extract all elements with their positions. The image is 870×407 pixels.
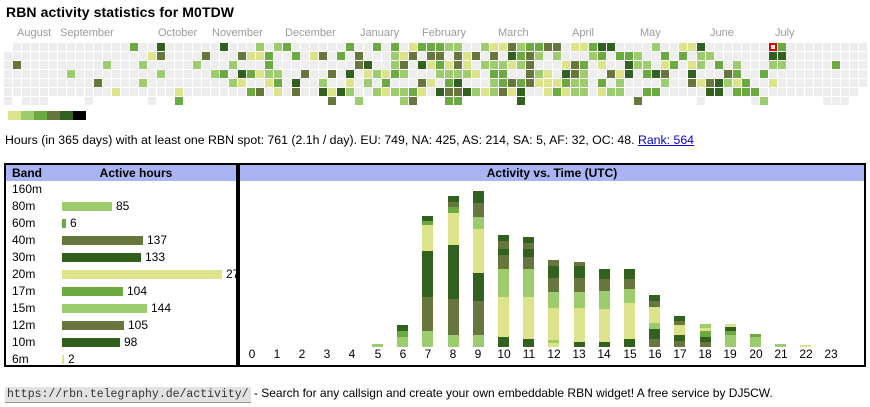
heatmap-cell[interactable] [31,70,39,78]
heatmap-cell[interactable] [643,70,651,78]
heatmap-cell[interactable] [112,70,120,78]
heatmap-cell[interactable] [346,52,354,60]
heatmap-cell[interactable] [373,52,381,60]
heatmap-cell[interactable] [49,61,57,69]
heatmap-cell[interactable] [553,88,561,96]
heatmap-cell[interactable] [409,52,417,60]
heatmap-cell[interactable] [751,70,759,78]
heatmap-cell[interactable] [391,52,399,60]
heatmap-cell[interactable] [670,61,678,69]
heatmap-cell[interactable] [643,88,651,96]
heatmap-cell[interactable] [247,61,255,69]
heatmap-cell[interactable] [202,79,210,87]
heatmap-cell[interactable] [760,88,768,96]
heatmap-cell[interactable] [292,43,300,51]
heatmap-cell[interactable] [481,43,489,51]
heatmap-cell[interactable] [661,79,669,87]
heatmap-cell[interactable] [796,79,804,87]
heatmap-cell[interactable] [418,61,426,69]
heatmap-cell[interactable] [589,88,597,96]
hour-bar[interactable] [422,216,433,347]
heatmap-cell[interactable] [148,52,156,60]
heatmap-cell[interactable] [841,70,849,78]
heatmap-cell[interactable] [805,79,813,87]
heatmap-cell[interactable] [553,70,561,78]
heatmap-cell[interactable] [733,52,741,60]
heatmap-cell[interactable] [787,52,795,60]
heatmap-cell[interactable] [589,79,597,87]
heatmap-cell[interactable] [31,97,39,105]
heatmap-cell[interactable] [301,88,309,96]
heatmap-cell[interactable] [157,88,165,96]
heatmap-cell[interactable] [49,70,57,78]
heatmap-cell[interactable] [337,61,345,69]
heatmap-cell[interactable] [607,61,615,69]
heatmap-cell[interactable] [778,70,786,78]
heatmap-cell[interactable] [670,70,678,78]
heatmap-cell[interactable] [256,43,264,51]
heatmap-cell[interactable] [832,79,840,87]
heatmap-cell[interactable] [850,52,858,60]
heatmap-cell[interactable] [760,43,768,51]
heatmap-cell[interactable] [409,79,417,87]
heatmap-cell[interactable] [148,43,156,51]
heatmap-cell[interactable] [490,70,498,78]
heatmap-cell[interactable] [211,52,219,60]
heatmap-cell[interactable] [643,79,651,87]
heatmap-cell[interactable] [814,70,822,78]
heatmap-cell[interactable] [517,61,525,69]
heatmap-cell[interactable] [112,79,120,87]
heatmap-cell[interactable] [571,70,579,78]
heatmap-cell[interactable] [292,52,300,60]
heatmap-cell[interactable] [265,70,273,78]
heatmap-cell[interactable] [265,43,273,51]
heatmap-cell[interactable] [58,79,66,87]
heatmap-cell[interactable] [58,70,66,78]
heatmap-cell[interactable] [598,88,606,96]
heatmap-cell[interactable] [580,43,588,51]
heatmap-cell[interactable] [391,79,399,87]
heatmap-cell[interactable] [697,79,705,87]
heatmap-cell[interactable] [823,43,831,51]
heatmap-cell[interactable] [796,43,804,51]
heatmap-cell[interactable] [778,88,786,96]
heatmap-cell[interactable] [562,43,570,51]
heatmap-cell[interactable] [697,88,705,96]
heatmap-cell[interactable] [310,70,318,78]
heatmap-cell[interactable] [13,43,21,51]
heatmap-cell[interactable] [787,61,795,69]
heatmap-cell[interactable] [148,61,156,69]
heatmap-cell[interactable] [463,88,471,96]
heatmap-cell[interactable] [562,79,570,87]
heatmap-cell[interactable] [193,79,201,87]
heatmap-cell[interactable] [49,43,57,51]
heatmap-cell[interactable] [715,79,723,87]
heatmap-cell[interactable] [40,88,48,96]
heatmap-cell[interactable] [823,61,831,69]
heatmap-cell[interactable] [301,43,309,51]
heatmap-cell[interactable] [382,61,390,69]
heatmap-cell[interactable] [238,79,246,87]
rank-link[interactable]: Rank: 564 [638,133,694,147]
hour-bar[interactable] [649,295,660,347]
heatmap-cell[interactable] [139,52,147,60]
heatmap-cell[interactable] [706,70,714,78]
heatmap-cell[interactable] [4,88,12,96]
heatmap-cell[interactable] [22,79,30,87]
heatmap-cell[interactable] [607,43,615,51]
heatmap-cell[interactable] [688,79,696,87]
heatmap-cell[interactable] [580,70,588,78]
heatmap-cell[interactable] [130,52,138,60]
heatmap-cell[interactable] [418,43,426,51]
heatmap-cell[interactable] [355,79,363,87]
heatmap-cell[interactable] [310,43,318,51]
heatmap-cell[interactable] [634,43,642,51]
heatmap-cell[interactable] [499,70,507,78]
heatmap-cell[interactable] [67,70,75,78]
heatmap-cell[interactable] [652,70,660,78]
heatmap-cell[interactable] [139,61,147,69]
heatmap-cell[interactable] [373,79,381,87]
heatmap-cell[interactable] [139,79,147,87]
heatmap-cell[interactable] [364,88,372,96]
heatmap-cell[interactable] [13,79,21,87]
heatmap-cell[interactable] [580,52,588,60]
heatmap-cell[interactable] [553,52,561,60]
heatmap-cell[interactable] [589,52,597,60]
heatmap-cell[interactable] [697,52,705,60]
heatmap-cell[interactable] [130,70,138,78]
heatmap-cell[interactable] [652,43,660,51]
heatmap-cell[interactable] [94,61,102,69]
heatmap-cell[interactable] [22,88,30,96]
heatmap-cell[interactable] [40,43,48,51]
heatmap-cell[interactable] [58,61,66,69]
heatmap-cell[interactable] [85,43,93,51]
heatmap-cell[interactable] [706,43,714,51]
heatmap-cell[interactable] [175,79,183,87]
heatmap-cell[interactable] [85,61,93,69]
heatmap-cell[interactable] [328,70,336,78]
heatmap-cell[interactable] [742,79,750,87]
heatmap-cell[interactable] [724,52,732,60]
heatmap-cell[interactable] [4,52,12,60]
heatmap-cell[interactable] [31,52,39,60]
heatmap-cell[interactable] [535,61,543,69]
hour-bar[interactable] [599,269,610,347]
heatmap-cell[interactable] [832,88,840,96]
heatmap-cell[interactable] [139,70,147,78]
heatmap-cell[interactable] [724,43,732,51]
heatmap-cell[interactable] [112,88,120,96]
heatmap-cell[interactable] [526,61,534,69]
heatmap-cell[interactable] [121,61,129,69]
heatmap-cell[interactable] [589,61,597,69]
heatmap-cell[interactable] [229,79,237,87]
heatmap-cell[interactable] [517,70,525,78]
heatmap-cell[interactable] [103,70,111,78]
heatmap-cell[interactable] [166,88,174,96]
heatmap-cell[interactable] [211,43,219,51]
hour-bar[interactable] [523,237,534,347]
heatmap-cell[interactable] [805,70,813,78]
heatmap-cell[interactable] [823,97,831,105]
heatmap-cell[interactable] [571,88,579,96]
heatmap-cell[interactable] [445,88,453,96]
heatmap-cell[interactable] [445,61,453,69]
heatmap-cell[interactable] [391,70,399,78]
heatmap-cell[interactable] [445,52,453,60]
heatmap-cell[interactable] [751,79,759,87]
hour-bar[interactable] [700,324,711,347]
heatmap-cell[interactable] [409,97,417,105]
heatmap-cell[interactable] [409,61,417,69]
heatmap-cell[interactable] [463,52,471,60]
heatmap-cell[interactable] [310,88,318,96]
heatmap-cell[interactable] [427,88,435,96]
heatmap-cell[interactable] [490,52,498,60]
heatmap-cell[interactable] [454,79,462,87]
heatmap-cell[interactable] [463,70,471,78]
heatmap-cell[interactable] [733,70,741,78]
heatmap-cell[interactable] [652,52,660,60]
heatmap-cell[interactable] [490,88,498,96]
heatmap-cell-today[interactable] [769,43,777,51]
heatmap-cell[interactable] [769,79,777,87]
heatmap-cell[interactable] [697,43,705,51]
heatmap-cell[interactable] [751,97,759,105]
heatmap-cell[interactable] [355,88,363,96]
heatmap-cell[interactable] [121,79,129,87]
heatmap-cell[interactable] [229,61,237,69]
heatmap-cell[interactable] [310,52,318,60]
heatmap-cell[interactable] [265,79,273,87]
heatmap-cell[interactable] [787,70,795,78]
heatmap-cell[interactable] [436,52,444,60]
heatmap-cell[interactable] [175,43,183,51]
heatmap-cell[interactable] [526,70,534,78]
heatmap-cell[interactable] [364,70,372,78]
heatmap-cell[interactable] [490,43,498,51]
heatmap-cell[interactable] [733,43,741,51]
heatmap-cell[interactable] [706,61,714,69]
heatmap-cell[interactable] [184,43,192,51]
heatmap-cell[interactable] [346,79,354,87]
heatmap-cell[interactable] [175,52,183,60]
heatmap-cell[interactable] [301,52,309,60]
heatmap-cell[interactable] [409,88,417,96]
heatmap-cell[interactable] [22,61,30,69]
heatmap-cell[interactable] [760,97,768,105]
heatmap-cell[interactable] [454,43,462,51]
heatmap-cell[interactable] [157,52,165,60]
heatmap-cell[interactable] [742,43,750,51]
heatmap-cell[interactable] [706,79,714,87]
heatmap-cell[interactable] [400,43,408,51]
heatmap-cell[interactable] [301,70,309,78]
heatmap-cell[interactable] [85,70,93,78]
heatmap-cell[interactable] [229,43,237,51]
heatmap-cell[interactable] [688,70,696,78]
heatmap-cell[interactable] [319,61,327,69]
heatmap-cell[interactable] [760,79,768,87]
heatmap-cell[interactable] [697,70,705,78]
heatmap-cell[interactable] [616,70,624,78]
heatmap-cell[interactable] [625,52,633,60]
heatmap-cell[interactable] [499,61,507,69]
heatmap-cell[interactable] [661,43,669,51]
heatmap-cell[interactable] [436,61,444,69]
heatmap-cell[interactable] [715,43,723,51]
heatmap-cell[interactable] [193,88,201,96]
heatmap-cell[interactable] [85,52,93,60]
heatmap-cell[interactable] [40,79,48,87]
heatmap-cell[interactable] [355,52,363,60]
heatmap-cell[interactable] [184,61,192,69]
heatmap-cell[interactable] [661,88,669,96]
heatmap-cell[interactable] [607,70,615,78]
heatmap-cell[interactable] [391,43,399,51]
heatmap-cell[interactable] [211,88,219,96]
heatmap-cell[interactable] [13,88,21,96]
heatmap-cell[interactable] [31,61,39,69]
heatmap-cell[interactable] [373,70,381,78]
heatmap-cell[interactable] [436,43,444,51]
heatmap-cell[interactable] [715,70,723,78]
heatmap-cell[interactable] [850,70,858,78]
heatmap-cell[interactable] [751,52,759,60]
heatmap-cell[interactable] [319,52,327,60]
heatmap-cell[interactable] [355,97,363,105]
heatmap-cell[interactable] [508,52,516,60]
heatmap-cell[interactable] [634,52,642,60]
heatmap-cell[interactable] [472,70,480,78]
heatmap-cell[interactable] [544,61,552,69]
heatmap-cell[interactable] [625,79,633,87]
heatmap-cell[interactable] [328,52,336,60]
heatmap-cell[interactable] [157,70,165,78]
heatmap-cell[interactable] [67,79,75,87]
heatmap-cell[interactable] [535,43,543,51]
heatmap-cell[interactable] [121,52,129,60]
heatmap-cell[interactable] [850,79,858,87]
heatmap-cell[interactable] [508,61,516,69]
heatmap-cell[interactable] [823,79,831,87]
heatmap-cell[interactable] [742,61,750,69]
heatmap-cell[interactable] [472,43,480,51]
heatmap-cell[interactable] [319,88,327,96]
heatmap-cell[interactable] [193,70,201,78]
heatmap-cell[interactable] [751,61,759,69]
heatmap-cell[interactable] [445,70,453,78]
heatmap-cell[interactable] [805,43,813,51]
heatmap-cell[interactable] [535,88,543,96]
heatmap-cell[interactable] [598,43,606,51]
heatmap-cell[interactable] [472,88,480,96]
heatmap-cell[interactable] [787,79,795,87]
heatmap-cell[interactable] [607,79,615,87]
heatmap-cell[interactable] [463,43,471,51]
heatmap-cell[interactable] [715,52,723,60]
heatmap-cell[interactable] [490,61,498,69]
heatmap-cell[interactable] [490,79,498,87]
heatmap-cell[interactable] [292,79,300,87]
heatmap-cell[interactable] [454,88,462,96]
heatmap-cell[interactable] [616,52,624,60]
heatmap-cell[interactable] [409,70,417,78]
heatmap-cell[interactable] [598,61,606,69]
heatmap-cell[interactable] [517,97,525,105]
heatmap-cell[interactable] [724,79,732,87]
heatmap-cell[interactable] [418,70,426,78]
heatmap-cell[interactable] [661,70,669,78]
heatmap-cell[interactable] [103,79,111,87]
heatmap-cell[interactable] [598,70,606,78]
heatmap-cell[interactable] [256,70,264,78]
heatmap-cell[interactable] [643,43,651,51]
heatmap-cell[interactable] [112,43,120,51]
heatmap-cell[interactable] [67,88,75,96]
heatmap-cell[interactable] [598,79,606,87]
heatmap-cell[interactable] [796,52,804,60]
heatmap-cell[interactable] [13,61,21,69]
heatmap-cell[interactable] [283,61,291,69]
heatmap-cell[interactable] [13,52,21,60]
heatmap-cell[interactable] [823,52,831,60]
heatmap-cell[interactable] [166,70,174,78]
heatmap-cell[interactable] [310,61,318,69]
heatmap-cell[interactable] [526,43,534,51]
heatmap-cell[interactable] [220,43,228,51]
heatmap-cell[interactable] [166,43,174,51]
heatmap-cell[interactable] [400,61,408,69]
heatmap-cell[interactable] [157,43,165,51]
heatmap-cell[interactable] [220,61,228,69]
heatmap-cell[interactable] [22,43,30,51]
heatmap-cell[interactable] [670,88,678,96]
heatmap-cell[interactable] [859,61,867,69]
heatmap-cell[interactable] [769,88,777,96]
heatmap-cell[interactable] [328,88,336,96]
heatmap-cell[interactable] [238,43,246,51]
heatmap-cell[interactable] [553,79,561,87]
heatmap-cell[interactable] [751,88,759,96]
heatmap-cell[interactable] [292,88,300,96]
heatmap-cell[interactable] [553,61,561,69]
heatmap-cell[interactable] [796,61,804,69]
heatmap-cell[interactable] [814,79,822,87]
heatmap-cell[interactable] [796,88,804,96]
heatmap-cell[interactable] [481,70,489,78]
heatmap-cell[interactable] [364,52,372,60]
heatmap-cell[interactable] [319,70,327,78]
heatmap-cell[interactable] [76,52,84,60]
heatmap-cell[interactable] [427,70,435,78]
heatmap-cell[interactable] [76,61,84,69]
heatmap-cell[interactable] [256,61,264,69]
heatmap-cell[interactable] [400,52,408,60]
heatmap-cell[interactable] [517,79,525,87]
heatmap-cell[interactable] [328,97,336,105]
heatmap-cell[interactable] [292,61,300,69]
heatmap-cell[interactable] [274,61,282,69]
heatmap-cell[interactable] [625,88,633,96]
heatmap-cell[interactable] [148,79,156,87]
heatmap-cell[interactable] [535,79,543,87]
